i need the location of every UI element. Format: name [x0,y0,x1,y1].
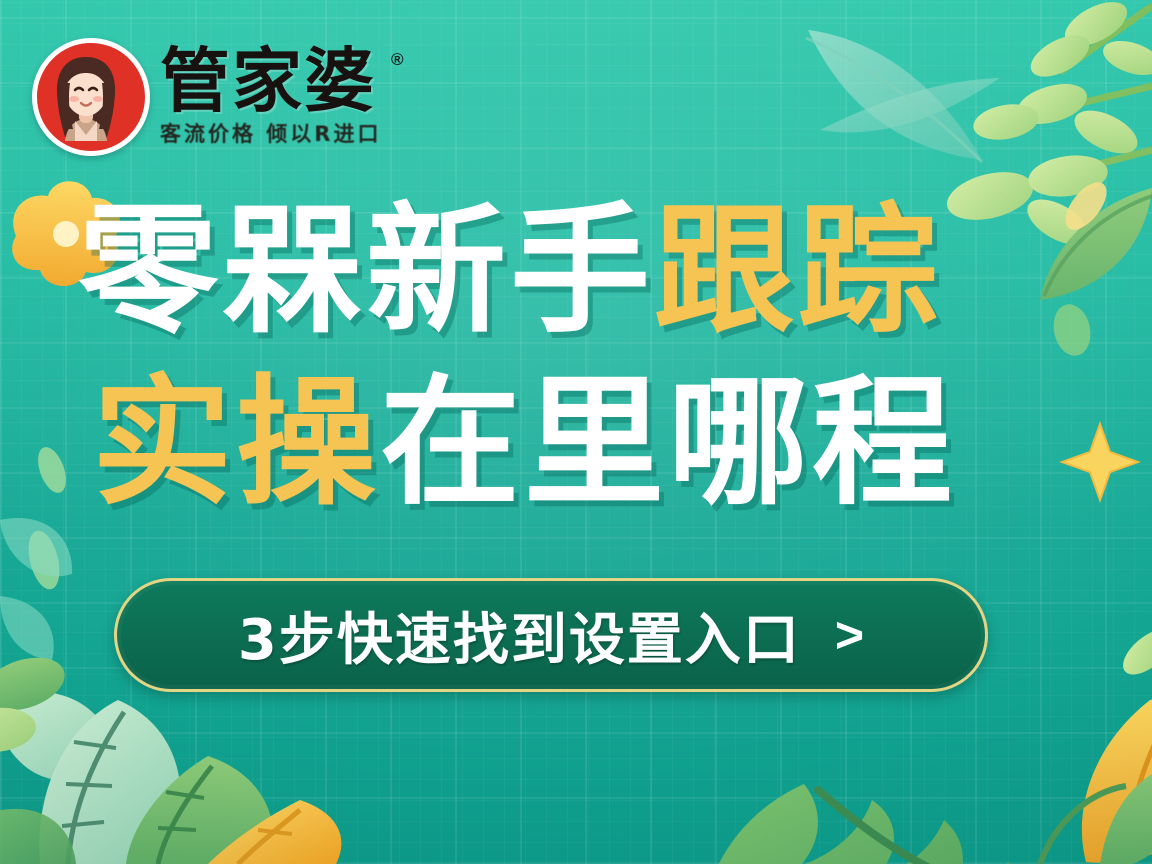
headline-block: 零槑新手跟踪 实操在里哪程 [78,186,1088,530]
headline-line2-segment-white: 在里哪程 [380,362,956,525]
brand-tagline: 客流价格 倾以R进口 [160,118,381,148]
avatar [32,38,150,156]
leaf-sprig-bottom-right [1040,621,1152,864]
headline-line1-segment-gold: 跟踪 [654,190,942,353]
banner-canvas: 管家婆 ® 客流价格 倾以R进口 零槑新手跟踪 实操在里哪程 3步快速找到设置入… [0,0,1152,864]
monstera-leaf-bottom-right [700,764,1152,864]
chevron-right-icon: > [835,610,864,660]
ghost-leaves-left [0,518,72,660]
cta-label: 3步快速找到设置入口 [238,595,801,676]
headline-line-1: 零槑新手跟踪 [78,186,1088,358]
brand-wordmark: 管家婆 ® 客流价格 倾以R进口 [160,46,381,149]
brand-logo[interactable]: 管家婆 ® 客流价格 倾以R进口 [32,38,381,156]
feather-leaf-top-center [806,30,1000,162]
headline-line2-segment-gold: 实操 [92,362,380,525]
cta-button[interactable]: 3步快速找到设置入口 > [114,578,988,692]
headline-line1-segment-white: 零槑新手 [78,190,654,353]
woman-avatar-icon [37,43,135,141]
brand-name: 管家婆 [160,48,381,115]
gold-leaf-bottom-right [1082,698,1152,864]
registered-trademark-icon: ® [391,50,404,70]
headline-line-2: 实操在里哪程 [92,358,1088,530]
